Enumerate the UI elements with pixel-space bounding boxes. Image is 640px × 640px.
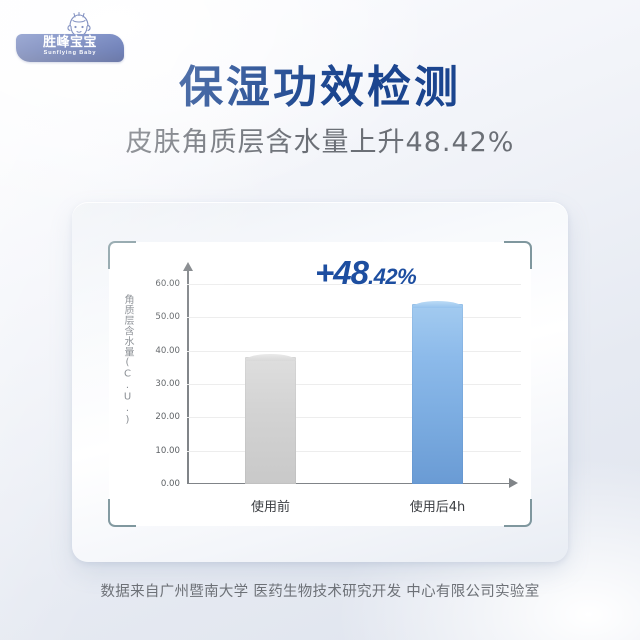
bar-cap [245, 354, 297, 361]
brand-name-en: Sunflying Baby [16, 50, 124, 57]
gridline [187, 451, 521, 452]
plot-area: 0.0010.0020.0030.0040.0050.0060.00使用前使用后… [187, 284, 521, 484]
y-axis-tick-label: 20.00 [155, 412, 180, 422]
bar-2 [412, 304, 464, 484]
increase-callout: +48.42% [315, 254, 416, 292]
gridline [187, 484, 521, 485]
y-axis-tick-label: 60.00 [155, 279, 180, 289]
poster-canvas: 胜峰宝宝 Sunflying Baby 保湿功效检测 皮肤角质层含水量上升48.… [0, 0, 640, 640]
bar-chart: 角质层含水量(C.U.) 0.0010.0020.0030.0040.0050.… [109, 242, 531, 526]
chart-panel: 角质层含水量(C.U.) 0.0010.0020.0030.0040.0050.… [109, 242, 531, 526]
bar-cap [412, 301, 464, 308]
gridline [187, 317, 521, 318]
brand-name-cn: 胜峰宝宝 [16, 36, 124, 50]
x-axis-tick-label: 使用前 [187, 500, 354, 516]
gridline [187, 384, 521, 385]
chart-card: 角质层含水量(C.U.) 0.0010.0020.0030.0040.0050.… [72, 202, 568, 562]
y-axis-tick-label: 40.00 [155, 346, 180, 356]
y-axis-tick-label: 0.00 [161, 479, 180, 489]
page-subtitle: 皮肤角质层含水量上升48.42% [0, 126, 640, 160]
gridline [187, 351, 521, 352]
y-axis-title: 角质层含水量(C.U.) [115, 294, 133, 474]
bar-1 [245, 357, 297, 484]
y-axis-tick-label: 50.00 [155, 312, 180, 322]
y-axis-arrow-icon [183, 262, 193, 271]
brand-logo: 胜峰宝宝 Sunflying Baby [16, 12, 124, 64]
gridline [187, 417, 521, 418]
callout-decimal: .42% [368, 264, 416, 289]
data-source-note: 数据来自广州暨南大学 医药生物技术研究开发 中心有限公司实验室 [0, 582, 640, 602]
y-axis-tick-label: 30.00 [155, 379, 180, 389]
brand-plate: 胜峰宝宝 Sunflying Baby [16, 34, 124, 62]
page-title: 保湿功效检测 [0, 62, 640, 114]
x-axis-tick-label: 使用后4h [354, 500, 521, 516]
callout-integer: +48 [315, 254, 368, 291]
y-axis-tick-label: 10.00 [155, 446, 180, 456]
